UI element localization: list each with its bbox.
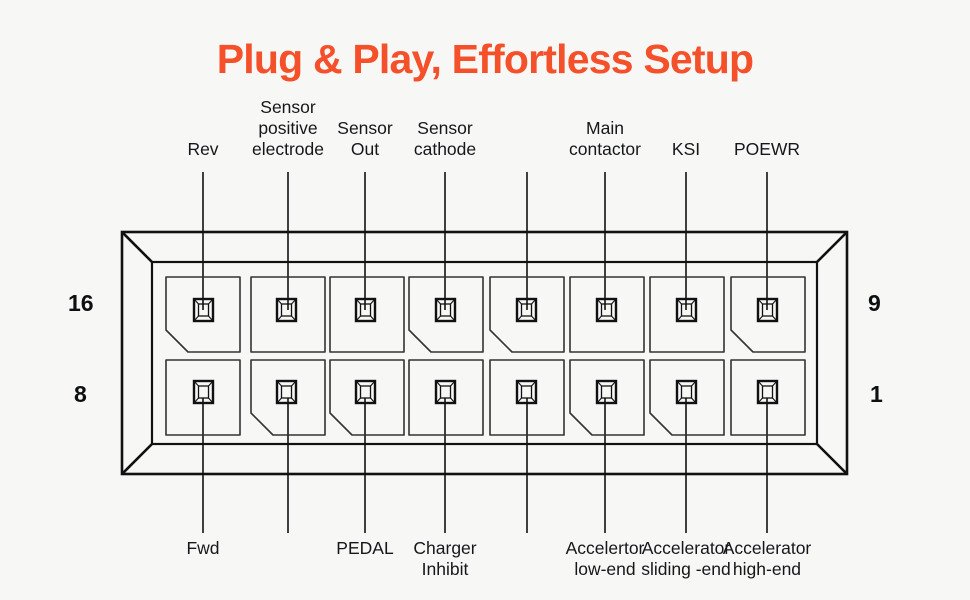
connector-diagram-graphic [0, 0, 970, 600]
pin-label-bottom-7: Accelerator sliding -end [641, 538, 731, 580]
pin-cell-top-4 [409, 277, 483, 352]
pin-terminal-bottom-2 [277, 381, 296, 403]
pin-cell-top-6 [570, 277, 644, 352]
pin-label-bottom-3: PEDAL [336, 538, 393, 559]
pin-terminal-top-6 [597, 299, 616, 321]
pin-terminals [194, 299, 777, 403]
pin-label-bottom-6: Accelertor low-end [566, 538, 645, 580]
pin-cell-top-3 [330, 277, 404, 352]
pin-number-bottom-right: 1 [870, 381, 883, 408]
pin-terminal-bottom-6 [597, 381, 616, 403]
pin-label-top-3: Sensor Out [337, 118, 392, 160]
pin-number-top-left: 16 [68, 290, 94, 317]
connector-housing [122, 232, 847, 474]
pin-cell-top-7 [650, 277, 724, 352]
pin-label-top-4: Sensor cathode [414, 118, 476, 160]
pin-label-bottom-8: Accelerator high-end [723, 538, 812, 580]
pin-label-top-2: Sensor positive electrode [252, 97, 324, 160]
pin-label-top-8: POEWR [734, 139, 800, 160]
pin-label-top-1: Rev [187, 139, 218, 160]
connector-diagram-page: Plug & Play, Effortless Setup [0, 0, 970, 600]
pin-cavities-bottom-row [166, 360, 805, 435]
leader-lines-bottom [203, 398, 767, 533]
pin-cavities-top-row [166, 277, 805, 352]
pin-label-top-7: KSI [672, 139, 700, 160]
leader-lines-top [203, 172, 767, 310]
pin-number-bottom-left: 8 [74, 381, 87, 408]
pin-label-bottom-1: Fwd [186, 538, 219, 559]
pin-label-bottom-4: Charger Inhibit [413, 538, 476, 580]
pin-terminal-top-2 [277, 299, 296, 321]
pin-number-top-right: 9 [868, 290, 881, 317]
pin-label-top-6: Main contactor [569, 118, 641, 160]
pin-cell-top-8 [731, 277, 805, 352]
